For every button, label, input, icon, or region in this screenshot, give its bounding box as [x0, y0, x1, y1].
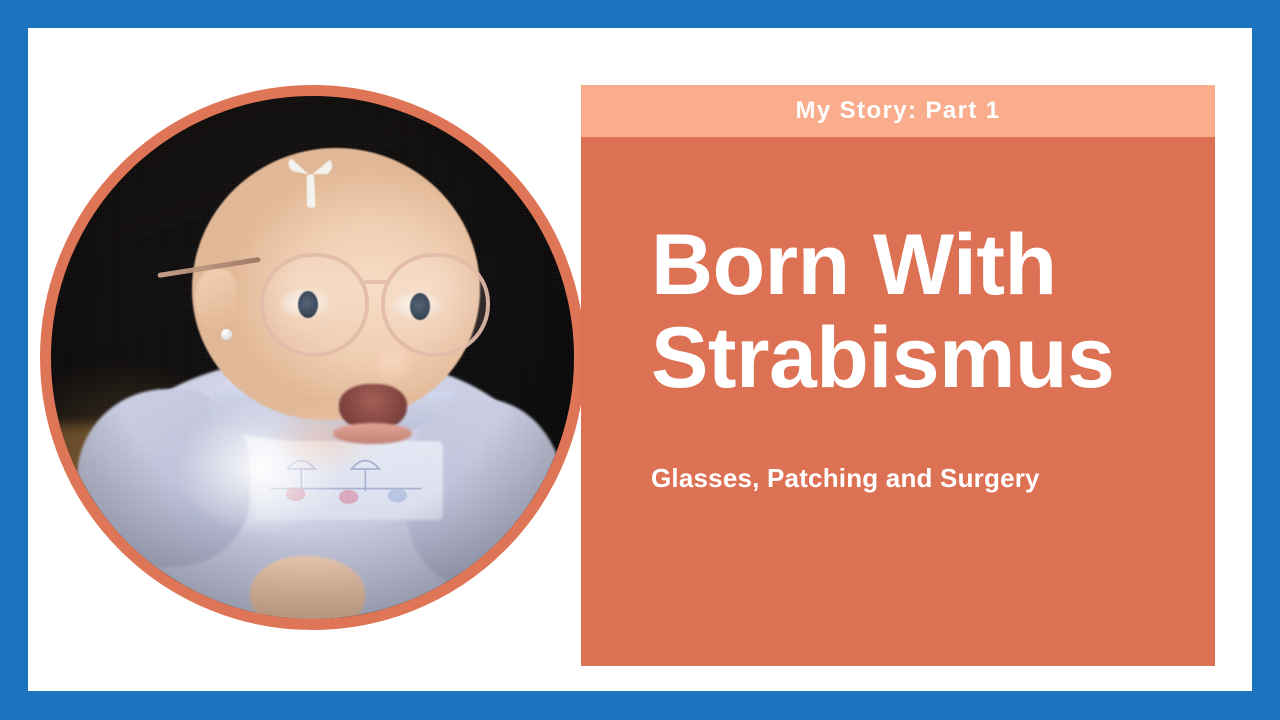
- eye-iris-left: [298, 291, 318, 318]
- hair-bow-icon: [281, 154, 339, 212]
- baby-lower-lip: [333, 423, 411, 444]
- title-panel: My Story: Part 1 Born With Strabismus Gl…: [581, 85, 1215, 666]
- eyeglasses-bridge: [364, 280, 387, 284]
- title-line-2: Strabismus: [651, 312, 1187, 405]
- baby-hands: [250, 556, 365, 619]
- title-panel-body: Born With Strabismus Glasses, Patching a…: [581, 137, 1215, 666]
- eyeglasses: [203, 253, 491, 358]
- eyebrow-label: My Story: Part 1: [795, 99, 1000, 123]
- page-title: Born With Strabismus: [651, 137, 1187, 405]
- eyebrow-band: My Story: Part 1: [581, 85, 1215, 137]
- title-line-1: Born With: [651, 219, 1187, 312]
- video-thumbnail-slide: My Story: Part 1 Born With Strabismus Gl…: [0, 0, 1280, 720]
- slide-canvas: My Story: Part 1 Born With Strabismus Gl…: [28, 28, 1252, 691]
- eye-iris-right: [410, 293, 430, 320]
- eyeglasses-temple-arm: [157, 257, 260, 278]
- baby-photo: [51, 96, 574, 619]
- page-subtitle: Glasses, Patching and Surgery: [651, 405, 1187, 494]
- circular-photo-frame: [40, 85, 585, 630]
